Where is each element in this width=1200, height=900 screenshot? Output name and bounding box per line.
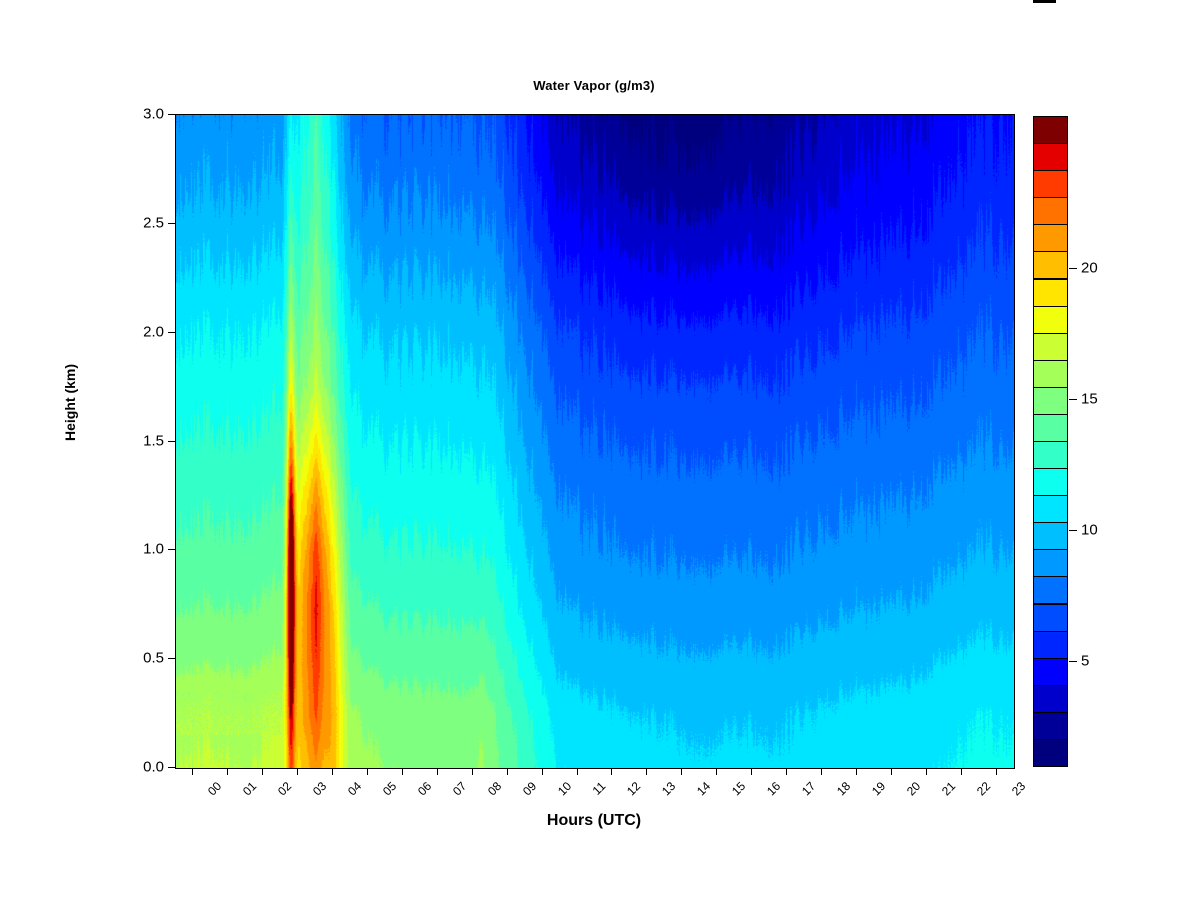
colorbar-band (1033, 197, 1068, 225)
colorbar-band (1033, 739, 1068, 767)
colorbar-band (1033, 468, 1068, 496)
y-tick-mark (168, 549, 175, 550)
colorbar-band (1033, 604, 1068, 632)
x-tick-label: 11 (589, 779, 608, 798)
x-tick-mark (332, 768, 333, 775)
heatmap-image (176, 115, 1014, 768)
colorbar-tick-label: 10 (1081, 522, 1098, 539)
x-tick-mark (227, 768, 228, 775)
x-tick-label: 23 (1008, 779, 1027, 798)
colorbar-tick-label: 15 (1081, 391, 1098, 408)
x-tick-mark (472, 768, 473, 775)
colorbar-tick-mark (1069, 661, 1077, 662)
y-tick-mark (168, 767, 175, 768)
x-tick-label: 16 (764, 779, 783, 798)
y-tick-mark (168, 441, 175, 442)
x-tick-mark (751, 768, 752, 775)
x-tick-label: 07 (450, 779, 469, 798)
colorbar-band (1033, 360, 1068, 388)
colorbar-tick-mark (1069, 268, 1077, 269)
x-tick-mark (262, 768, 263, 775)
colorbar-tick-label: 20 (1081, 260, 1098, 277)
colorbar-band (1033, 441, 1068, 469)
y-tick-label: 0.5 (143, 650, 164, 667)
colorbar-band (1033, 116, 1068, 144)
x-tick-mark (996, 768, 997, 775)
x-tick-mark (542, 768, 543, 775)
x-tick-label: 12 (624, 779, 643, 798)
x-tick-label: 02 (275, 779, 294, 798)
x-tick-label: 08 (485, 779, 504, 798)
colorbar-band (1033, 224, 1068, 252)
x-tick-label: 06 (415, 779, 434, 798)
x-tick-label: 09 (520, 779, 539, 798)
x-tick-mark (577, 768, 578, 775)
colorbar-band (1033, 549, 1068, 577)
x-tick-label: 01 (240, 779, 259, 798)
x-tick-label: 00 (205, 779, 224, 798)
colorbar[interactable] (1033, 116, 1068, 766)
y-axis: 0.00.51.01.52.02.53.0 (0, 0, 175, 900)
x-tick-label: 15 (729, 779, 748, 798)
x-tick-label: 04 (345, 779, 364, 798)
page-title: Water Vapor (g/m3) (175, 78, 1013, 93)
y-tick-mark (168, 658, 175, 659)
y-tick-label: 2.0 (143, 323, 164, 340)
x-tick-label: 22 (974, 779, 993, 798)
y-axis-title: Height (km) (62, 364, 78, 441)
x-tick-label: 21 (939, 779, 958, 798)
x-tick-mark (402, 768, 403, 775)
colorbar-band (1033, 631, 1068, 659)
x-tick-label: 19 (869, 779, 888, 798)
colorbar-band (1033, 685, 1068, 713)
x-tick-label: 13 (659, 779, 678, 798)
colorbar-band (1033, 658, 1068, 686)
x-tick-mark (716, 768, 717, 775)
colorbar-tick-label: 5 (1081, 653, 1089, 670)
colorbar-band (1033, 251, 1068, 279)
y-tick-mark (168, 223, 175, 224)
y-tick-label: 1.0 (143, 541, 164, 558)
x-tick-mark (297, 768, 298, 775)
colorbar-band (1033, 170, 1068, 198)
colorbar-band (1033, 495, 1068, 523)
x-tick-label: 05 (380, 779, 399, 798)
colorbar-band (1033, 522, 1068, 550)
x-tick-label: 18 (834, 779, 853, 798)
x-tick-label: 10 (555, 779, 574, 798)
x-tick-mark (821, 768, 822, 775)
y-tick-label: 3.0 (143, 106, 164, 123)
colorbar-band (1033, 143, 1068, 171)
colorbar-band (1033, 333, 1068, 361)
x-axis-title: Hours (UTC) (175, 812, 1013, 830)
x-tick-mark (856, 768, 857, 775)
colorbar-band (1033, 387, 1068, 415)
x-tick-mark (961, 768, 962, 775)
y-tick-label: 0.0 (143, 759, 164, 776)
x-tick-label: 20 (904, 779, 923, 798)
x-tick-mark (192, 768, 193, 775)
colorbar-band (1033, 279, 1068, 307)
y-tick-label: 1.5 (143, 432, 164, 449)
colorbar-tick-mark (1069, 530, 1077, 531)
x-tick-mark (646, 768, 647, 775)
corner-rule-artifact (1033, 0, 1056, 3)
x-tick-label: 14 (694, 779, 713, 798)
x-tick-mark (611, 768, 612, 775)
x-tick-mark (437, 768, 438, 775)
x-tick-mark (891, 768, 892, 775)
x-tick-mark (681, 768, 682, 775)
colorbar-band (1033, 576, 1068, 604)
x-tick-label: 17 (799, 779, 818, 798)
x-tick-mark (786, 768, 787, 775)
x-tick-mark (367, 768, 368, 775)
colorbar-tick-mark (1069, 399, 1077, 400)
colorbar-band (1033, 712, 1068, 740)
colorbar-band (1033, 414, 1068, 442)
y-tick-mark (168, 332, 175, 333)
y-tick-label: 2.5 (143, 214, 164, 231)
heatmap-plot-area[interactable] (175, 114, 1015, 769)
y-tick-mark (168, 114, 175, 115)
figure-canvas: Water Vapor (g/m3) 0.00.51.01.52.02.53.0… (0, 0, 1200, 900)
x-tick-mark (507, 768, 508, 775)
colorbar-band (1033, 306, 1068, 334)
x-tick-label: 03 (310, 779, 329, 798)
x-tick-mark (926, 768, 927, 775)
